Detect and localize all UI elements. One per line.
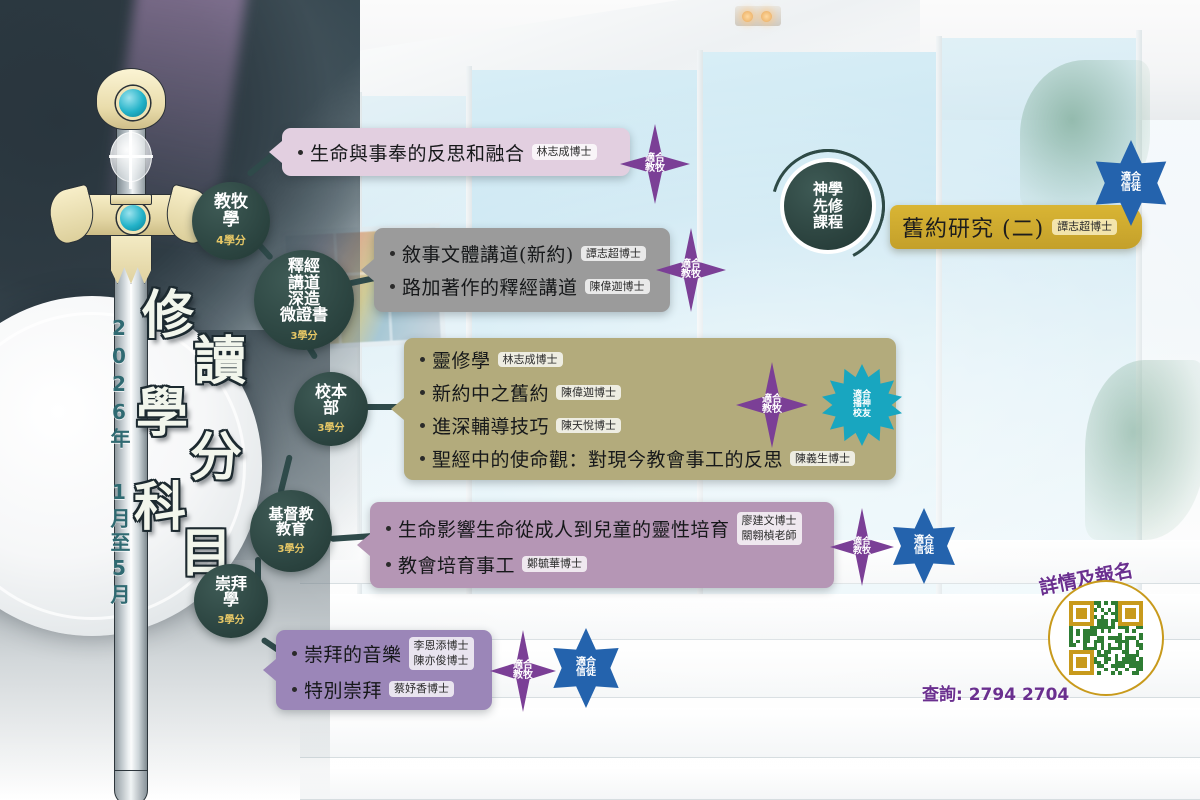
- node-credits: 3學分: [218, 611, 245, 626]
- ceiling-spotlight: [735, 6, 781, 26]
- course-row: 路加著作的釋經講道 陳偉迦博士: [390, 273, 656, 300]
- badge-line2: 教牧: [762, 404, 782, 415]
- badge-line1: 適合: [914, 535, 934, 546]
- title-char-2: 讀: [194, 336, 246, 388]
- course-teacher: 陳偉迦博士: [556, 385, 621, 401]
- badge-line1: 適合: [576, 657, 596, 668]
- window-mullion: [936, 36, 942, 596]
- course-title: 生命與事奉的反思和融合: [310, 139, 525, 166]
- title-char-3: 學: [136, 388, 188, 440]
- box-arrow: [269, 141, 282, 163]
- node-credits: 3學分: [318, 419, 345, 434]
- box-arrow: [391, 398, 404, 420]
- node-main-campus[interactable]: 校本部 3學分: [294, 372, 368, 446]
- bullet-icon: [420, 357, 425, 362]
- course-title: 路加著作的釋經講道: [402, 273, 578, 300]
- course-box-pastoral[interactable]: 生命與事奉的反思和融合 林志成博士: [282, 128, 630, 176]
- course-teacher: 譚志超博士: [581, 246, 646, 262]
- node-credits: 3學分: [291, 327, 318, 342]
- course-box-exegesis[interactable]: 敘事文體講道(新約) 譚志超博士 路加著作的釋經講道 陳偉迦博士: [374, 228, 670, 312]
- course-teacher: 陳天悅博士: [556, 418, 621, 434]
- course-box-main-campus[interactable]: 靈修學 林志成博士 新約中之舊約 陳偉迦博士 進深輔導技巧 陳天悅博士 聖經中的…: [404, 338, 896, 480]
- bullet-icon: [298, 150, 303, 155]
- sword-collar-bottom: [110, 194, 152, 205]
- course-box-christian-education[interactable]: 生命影響生命從成人到兒童的靈性培育 廖建文博士 關翱楨老師 教會培育事工 鄭毓華…: [370, 502, 834, 588]
- node-pastoral-studies[interactable]: 教牧學 4學分: [192, 182, 270, 260]
- poster-canvas: 2026年 1月至5月 修 讀 學 分 科 目 教牧學 4學分 釋經講道深造微證…: [0, 0, 1200, 800]
- bullet-icon: [420, 456, 425, 461]
- course-teacher: 鄭毓華博士: [522, 556, 587, 572]
- sword-tip: [114, 770, 148, 800]
- course-row: 靈修學 林志成博士: [420, 346, 882, 373]
- course-teacher: 林志成博士: [498, 352, 563, 368]
- badge-line2: 教牧: [853, 546, 871, 556]
- badge-line2: 教牧: [681, 269, 701, 280]
- title-char-1: 修: [142, 290, 194, 342]
- badge-line3: 校友: [853, 409, 871, 419]
- bullet-icon: [390, 284, 395, 289]
- course-title: 特別崇拜: [304, 676, 382, 703]
- bullet-icon: [386, 562, 391, 567]
- gold-course-bar[interactable]: 舊約研究 (二) 譚志超博士: [890, 205, 1142, 249]
- sword-guard-gem: [117, 202, 149, 234]
- node-credits: 4學分: [216, 232, 246, 248]
- prep-course-node[interactable]: 神學 先修 課程: [780, 158, 876, 254]
- course-teacher: 廖建文博士: [742, 514, 797, 528]
- sword-grip-globe-emblem: [110, 132, 152, 182]
- course-title: 新約中之舊約: [432, 379, 549, 406]
- node-label-line2: 學: [223, 590, 239, 609]
- bullet-icon: [390, 251, 395, 256]
- node-worship-studies[interactable]: 崇拜學 3學分: [194, 564, 268, 638]
- badge-line2: 信徒: [576, 667, 596, 678]
- course-teacher: 李恩添博士: [414, 639, 469, 653]
- box-arrow: [361, 259, 374, 281]
- course-row: 生命與事奉的反思和融合 林志成博士: [298, 139, 616, 166]
- sword-skirt: [110, 228, 152, 284]
- bullet-icon: [292, 651, 297, 656]
- course-teacher: 陳義生博士: [790, 451, 855, 467]
- node-label-line4: 微證書: [280, 305, 328, 324]
- course-box-worship[interactable]: 崇拜的音樂 李恩添博士 陳亦俊博士 特別崇拜 蔡妤香博士: [276, 630, 492, 710]
- node-label-line2: 學: [223, 210, 240, 230]
- prep-label-line3: 課程: [813, 213, 843, 231]
- course-row: 教會培育事工 鄭毓華博士: [386, 551, 820, 578]
- course-row: 特別崇拜 蔡妤香博士: [292, 676, 478, 703]
- prep-circle: 神學 先修 課程: [780, 158, 876, 254]
- node-credits: 3學分: [278, 540, 305, 555]
- course-title: 靈修學: [432, 346, 491, 373]
- course-row: 崇拜的音樂 李恩添博士 陳亦俊博士: [292, 637, 478, 670]
- box-arrow: [357, 534, 370, 556]
- badge-line2: 信徒: [914, 545, 934, 556]
- title-char-5: 科: [134, 482, 186, 534]
- palm-foliage: [1085, 360, 1200, 540]
- course-title: 敘事文體講道(新約): [402, 240, 574, 267]
- course-title: 進深輔導技巧: [432, 412, 549, 439]
- course-row: 新約中之舊約 陳偉迦博士: [420, 379, 882, 406]
- course-teachers: 廖建文博士 關翱楨老師: [737, 512, 802, 545]
- course-row: 生命影響生命從成人到兒童的靈性培育 廖建文博士 關翱楨老師: [386, 512, 820, 545]
- course-row: 敘事文體講道(新約) 譚志超博士: [390, 240, 656, 267]
- node-exegesis-preaching-cert[interactable]: 釋經講道深造微證書 3學分: [254, 250, 354, 350]
- course-row: 進深輔導技巧 陳天悅博士: [420, 412, 882, 439]
- course-teacher: 關翱楨老師: [742, 529, 797, 543]
- node-label-line2: 教育: [276, 520, 306, 538]
- prep-label-line2: 先修: [813, 197, 843, 215]
- box-arrow: [263, 659, 276, 681]
- node-christian-education[interactable]: 基督教教育 3學分: [250, 490, 332, 572]
- badge-line1: 適合: [1121, 172, 1141, 183]
- gold-course-title: 舊約研究 (二): [902, 211, 1044, 243]
- course-title: 生命影響生命從成人到兒童的靈性培育: [398, 515, 730, 542]
- bullet-icon: [420, 390, 425, 395]
- node-label-line2: 部: [323, 398, 339, 417]
- course-row: 聖經中的使命觀：對現今教會事工的反思 陳義生博士: [420, 445, 882, 472]
- course-teacher: 陳亦俊博士: [414, 654, 469, 668]
- qr-matrix: [1069, 601, 1143, 675]
- qr-code[interactable]: [1048, 580, 1164, 696]
- title-char-4: 分: [190, 432, 242, 484]
- course-title: 聖經中的使命觀：對現今教會事工的反思: [432, 445, 783, 472]
- gold-course-teacher: 譚志超博士: [1052, 219, 1117, 235]
- phone-number: 查詢: 2794 2704: [922, 680, 1069, 705]
- course-title: 教會培育事工: [398, 551, 515, 578]
- bullet-icon: [292, 687, 297, 692]
- course-teacher: 林志成博士: [532, 144, 597, 160]
- bullet-icon: [386, 526, 391, 531]
- badge-line2: 信徒: [1121, 182, 1141, 193]
- bullet-icon: [420, 423, 425, 428]
- qr-circle-frame: [1048, 580, 1164, 696]
- sword-pommel-gem: [116, 86, 150, 120]
- course-teacher: 蔡妤香博士: [389, 681, 454, 697]
- course-teacher: 陳偉迦博士: [585, 279, 650, 295]
- course-teachers: 李恩添博士 陳亦俊博士: [409, 637, 474, 670]
- prep-label-line1: 神學: [813, 180, 843, 198]
- course-title: 崇拜的音樂: [304, 640, 402, 667]
